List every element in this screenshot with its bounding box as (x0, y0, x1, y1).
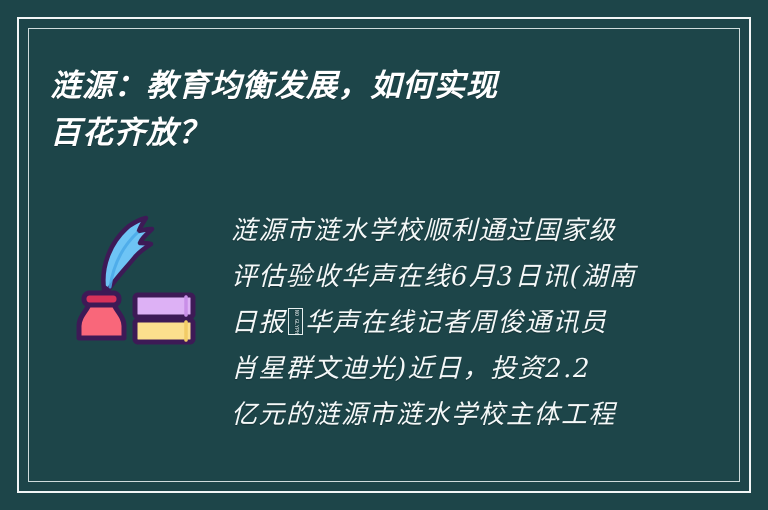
article-body: 涟源市涟水学校顺利通过国家级 评估验收华声在线6月3日讯(湖南 日报华声在线记者… (231, 208, 661, 438)
body-line-5: 亿元的涟源市涟水学校主体工程 (231, 392, 661, 438)
body-line-3-post: 华声在线记者周俊通讯员 (305, 308, 608, 338)
quill-inkwell-books-icon (57, 210, 197, 345)
title-line-2: 百花齐放？ (50, 109, 650, 156)
quill-inkwell-books-illustration (57, 210, 197, 345)
body-line-4: 肖星群文迪光)近日，投资2.2 (231, 346, 661, 392)
books-stack-icon (135, 295, 193, 342)
page-title: 涟源：教育均衡发展，如何实现 百花齐放？ (50, 62, 650, 156)
body-line-1: 涟源市涟水学校顺利通过国家级 (231, 208, 661, 254)
article-cover-card: 涟源：教育均衡发展，如何实现 百花齐放？ (0, 0, 768, 510)
quill-feather-icon (103, 218, 152, 289)
missing-glyph-box (288, 308, 303, 335)
inkwell-icon (79, 293, 124, 338)
body-line-3-pre: 日报 (231, 308, 286, 338)
body-line-3: 日报华声在线记者周俊通讯员 (231, 300, 661, 346)
title-line-1: 涟源：教育均衡发展，如何实现 (50, 62, 650, 109)
body-line-2: 评估验收华声在线6月3日讯(湖南 (231, 254, 661, 300)
